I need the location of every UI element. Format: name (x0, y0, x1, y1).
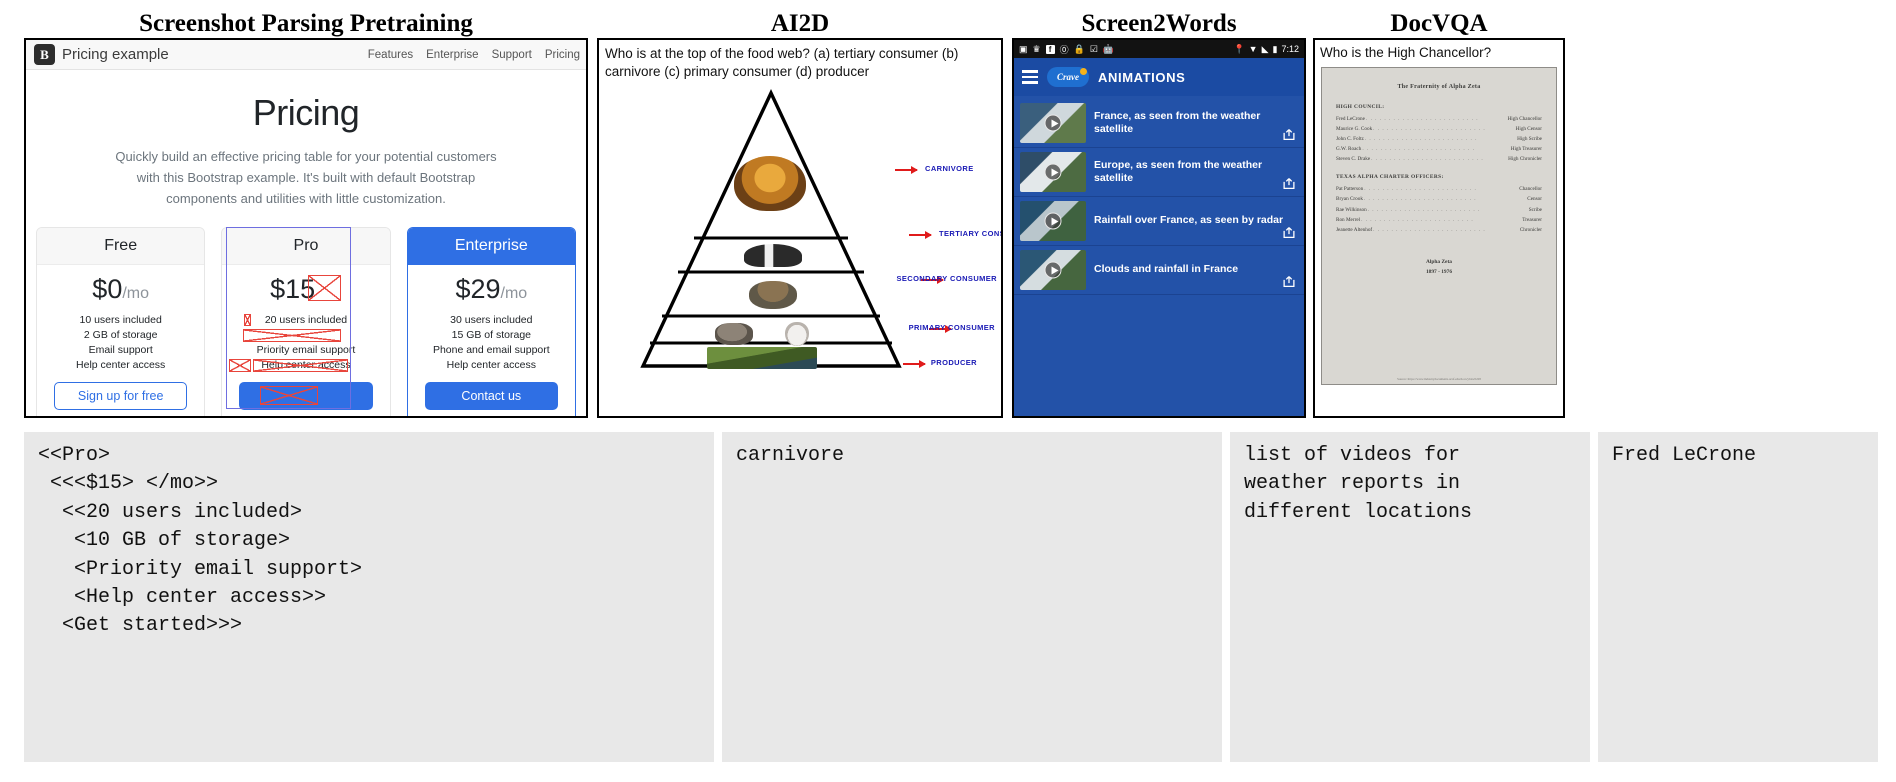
leader-dots: . . . . . . . . . . . . . . . . . . . . … (1367, 205, 1529, 215)
person-role: High Treasurer (1511, 144, 1542, 154)
navbar-brand[interactable]: Pricing example (62, 46, 169, 63)
lock-icon: 🔒 (1074, 44, 1085, 55)
feature-item: Help center access (45, 358, 196, 373)
person-name: Ron Merrel (1336, 215, 1360, 225)
feature-item: 10 users included (45, 313, 196, 328)
label-secondary-consumer: SECONDARY CONSUMER (896, 274, 997, 283)
panel-docvqa: Who is the High Chancellor? The Fraterni… (1313, 38, 1565, 418)
list-item[interactable]: Clouds and rainfall in France (1014, 246, 1304, 295)
video-title: Europe, as seen from the weather satelli… (1094, 159, 1298, 186)
person-role: High Chronicler (1508, 154, 1542, 164)
docvqa-question: Who is the High Chancellor? (1315, 40, 1563, 65)
android-status-bar: ▣ ♛ f ⓪ 🔒 ☑ 🤖 📍 ▼ ◣ ▮ 7:12 (1014, 40, 1304, 58)
person-role: Censor (1527, 194, 1542, 204)
grass-producer-image (707, 347, 817, 369)
label-primary-consumer: PRIMARY CONSUMER (909, 323, 995, 332)
price-pro: $15/mo (230, 274, 381, 305)
column-title-ai2d: AI2D (597, 10, 1003, 38)
person-name: G.W. Roach (1336, 144, 1361, 154)
roster-row: Bryan Crook . . . . . . . . . . . . . . … (1336, 194, 1542, 204)
leader-dots: . . . . . . . . . . . . . . . . . . . . … (1363, 184, 1519, 194)
rabbit-image (785, 322, 809, 346)
video-title: Rainfall over France, as seen by radar (1094, 214, 1298, 227)
feature-item: 30 users included (416, 313, 567, 328)
play-icon[interactable] (1045, 164, 1062, 181)
arrow-producer (903, 363, 925, 365)
person-name: Jeanette Altenhof (1336, 225, 1372, 235)
panel-screen2words: ▣ ♛ f ⓪ 🔒 ☑ 🤖 📍 ▼ ◣ ▮ 7:12 Crave ANIMATI… (1012, 38, 1306, 418)
mask-helpcenter-part1 (229, 359, 251, 372)
person-name: Steven C. Drake (1336, 154, 1370, 164)
footer-years: 1897 - 1976 (1336, 267, 1542, 277)
person-name: Maurice G. Cook (1336, 124, 1372, 134)
contactus-button[interactable]: Contact us (425, 382, 558, 410)
document-title: The Fraternity of Alpha Zeta (1336, 84, 1542, 90)
bootstrap-navbar: B Pricing example Features Enterprise Su… (26, 40, 586, 70)
app-logo-text: Crave (1057, 72, 1079, 82)
nav-item-features[interactable]: Features (368, 49, 413, 61)
arrow-tertiary-consumer (909, 234, 931, 236)
document-content: The Fraternity of Alpha Zeta HIGH COUNCI… (1322, 68, 1556, 294)
column-title-docvqa: DocVQA (1313, 10, 1565, 38)
feature-item: Email support (45, 343, 196, 358)
snake-rodent-image (749, 281, 797, 309)
feature-item: 20 users included (230, 313, 381, 328)
app-bar: Crave ANIMATIONS (1014, 58, 1304, 96)
roster-row: Steven C. Drake . . . . . . . . . . . . … (1336, 154, 1542, 164)
section-heading-high-council: HIGH COUNCIL: (1336, 104, 1542, 110)
caption-spp: <<Pro> <<<$15> </mo>> <<20 users include… (24, 432, 714, 762)
person-role: High Scribe (1517, 134, 1542, 144)
pricing-hero: Pricing Quickly build an effective prici… (26, 70, 586, 209)
panel-ai2d: Who is at the top of the food web? (a) t… (597, 38, 1003, 418)
document-footer: Alpha Zeta 1897 - 1976 (1336, 257, 1542, 278)
price-free: $0/mo (45, 274, 196, 305)
price-period: /mo (501, 285, 528, 302)
mask-price-period (308, 275, 341, 301)
nav-item-enterprise[interactable]: Enterprise (426, 49, 478, 61)
panel-screenshot-parsing-pretraining: B Pricing example Features Enterprise Su… (24, 38, 588, 418)
play-icon[interactable] (1045, 262, 1062, 279)
person-name: Pat Patterson (1336, 184, 1363, 194)
roster-row: Jeanette Altenhof . . . . . . . . . . . … (1336, 225, 1542, 235)
roster-row: Fred LeCrone . . . . . . . . . . . . . .… (1336, 114, 1542, 124)
list-item[interactable]: France, as seen from the weather satelli… (1014, 99, 1304, 148)
sim-icon: ▣ (1019, 44, 1028, 55)
feature-item: Help center access (416, 358, 567, 373)
feature-item: 2 GB of storage (45, 328, 196, 343)
person-role: Chancellor (1519, 184, 1542, 194)
caption-ai2d: carnivore (722, 432, 1222, 762)
roster-row: Maurice G. Cook . . . . . . . . . . . . … (1336, 124, 1542, 134)
caption-screen2words: list of videos for weather reports in di… (1230, 432, 1590, 762)
card-title-free: Free (37, 228, 204, 265)
feature-item: Phone and email support (416, 343, 567, 358)
mask-helpcenter-part2 (253, 359, 348, 372)
person-role: Scribe (1529, 205, 1542, 215)
share-icon[interactable] (1282, 275, 1296, 288)
person-name: Fred LeCrone (1336, 114, 1365, 124)
column-title-spp: Screenshot Parsing Pretraining (24, 10, 588, 38)
card-title-pro: Pro (222, 228, 389, 265)
info-icon: ⓪ (1060, 43, 1069, 56)
caption-docvqa: Fred LeCrone (1598, 432, 1878, 762)
nav-item-pricing[interactable]: Pricing (545, 49, 580, 61)
eagle-image (744, 244, 802, 267)
food-pyramid-diagram: CARNIVORE TERTIARY CONSUMER SECONDARY CO… (599, 81, 1001, 377)
page-title: Pricing (26, 92, 586, 134)
video-thumbnail (1020, 201, 1086, 241)
status-time: 7:12 (1281, 44, 1299, 54)
pricing-card-enterprise: Enterprise $29/mo 30 users included 15 G… (407, 227, 576, 418)
nav-item-support[interactable]: Support (492, 49, 532, 61)
roster-row: Rae Wilkinson . . . . . . . . . . . . . … (1336, 205, 1542, 215)
scanned-document: The Fraternity of Alpha Zeta HIGH COUNCI… (1321, 67, 1557, 385)
video-thumbnail (1020, 152, 1086, 192)
pricing-card-free: Free $0/mo 10 users included 2 GB of sto… (36, 227, 205, 418)
person-role: High Chancellor (1508, 114, 1542, 124)
facebook-icon: f (1046, 45, 1055, 54)
leader-dots: . . . . . . . . . . . . . . . . . . . . … (1360, 215, 1522, 225)
video-thumbnail (1020, 250, 1086, 290)
roster-row: John C. Foltz . . . . . . . . . . . . . … (1336, 134, 1542, 144)
card-body-enterprise: $29/mo 30 users included 15 GB of storag… (408, 265, 575, 418)
figure-root: Screenshot Parsing Pretraining AI2D Scre… (0, 0, 1896, 782)
label-carnivore: CARNIVORE (925, 164, 974, 173)
person-role: Treasurer (1522, 215, 1542, 225)
roster-row: G.W. Roach . . . . . . . . . . . . . . .… (1336, 144, 1542, 154)
bootstrap-logo-icon: B (34, 44, 55, 65)
leader-dots: . . . . . . . . . . . . . . . . . . . . … (1370, 154, 1508, 164)
video-list: France, as seen from the weather satelli… (1014, 96, 1304, 418)
feature-item: Priority email support (230, 343, 381, 358)
pricing-cards: Free $0/mo 10 users included 2 GB of sto… (26, 209, 586, 418)
location-icon: 📍 (1233, 44, 1244, 55)
arrow-carnivore (895, 169, 917, 171)
footer-org: Alpha Zeta (1336, 257, 1542, 267)
feature-list-free: 10 users included 2 GB of storage Email … (45, 313, 196, 373)
mask-getstarted-label (260, 386, 318, 405)
navbar-menu: Features Enterprise Support Pricing (368, 49, 580, 61)
roster-row: Ron Merrel . . . . . . . . . . . . . . .… (1336, 215, 1542, 225)
battery-icon: ▮ (1273, 44, 1278, 55)
logo-dot-icon (1080, 68, 1087, 75)
video-title: France, as seen from the weather satelli… (1094, 110, 1298, 137)
play-icon[interactable] (1045, 213, 1062, 230)
document-source-note: Source: https://www.industrydocuments.uc… (1322, 377, 1556, 381)
person-name: Bryan Crook (1336, 194, 1363, 204)
price-period: /mo (122, 285, 149, 302)
hero-subtext: Quickly build an effective pricing table… (104, 146, 508, 209)
section-heading-texas-alpha: TEXAS ALPHA CHARTER OFFICERS: (1336, 174, 1542, 180)
price-amount: $29 (455, 274, 500, 304)
video-title: Clouds and rainfall in France (1094, 263, 1298, 276)
person-role: Chronicler (1520, 225, 1542, 235)
signup-button[interactable]: Sign up for free (54, 382, 187, 410)
leader-dots: . . . . . . . . . . . . . . . . . . . . … (1372, 225, 1520, 235)
price-enterprise: $29/mo (416, 274, 567, 305)
leader-dots: . . . . . . . . . . . . . . . . . . . . … (1364, 134, 1517, 144)
mouse-image (715, 323, 753, 345)
person-name: Rae Wilkinson (1336, 205, 1367, 215)
checkbox-icon: ☑ (1090, 44, 1098, 55)
leader-dots: . . . . . . . . . . . . . . . . . . . . … (1365, 114, 1508, 124)
leader-dots: . . . . . . . . . . . . . . . . . . . . … (1372, 124, 1515, 134)
price-amount: $0 (92, 274, 122, 304)
app-bar-title: ANIMATIONS (1098, 70, 1185, 85)
person-role: High Censor (1516, 124, 1542, 134)
card-body-free: $0/mo 10 users included 2 GB of storage … (37, 265, 204, 418)
hamburger-icon[interactable] (1022, 70, 1038, 84)
leader-dots: . . . . . . . . . . . . . . . . . . . . … (1363, 194, 1527, 204)
wifi-icon: ▼ (1249, 44, 1258, 54)
play-icon[interactable] (1045, 115, 1062, 132)
list-item[interactable]: Europe, as seen from the weather satelli… (1014, 148, 1304, 197)
share-icon[interactable] (1282, 177, 1296, 190)
pricing-card-pro: Pro $15/mo 20 users included 10 GB of st… (221, 227, 390, 418)
leader-dots: . . . . . . . . . . . . . . . . . . . . … (1361, 144, 1510, 154)
android-icon: 🤖 (1103, 44, 1114, 55)
share-icon[interactable] (1282, 226, 1296, 239)
mask-users-digit (244, 314, 251, 326)
list-item[interactable]: Rainfall over France, as seen by radar (1014, 197, 1304, 246)
mask-storage-line (243, 329, 341, 342)
person-name: John C. Foltz (1336, 134, 1364, 144)
share-icon[interactable] (1282, 128, 1296, 141)
app-logo: Crave (1047, 67, 1089, 87)
crown-icon: ♛ (1033, 44, 1041, 55)
signal-icon: ◣ (1262, 44, 1269, 55)
label-tertiary-consumer: TERTIARY CONSUMER (939, 229, 1003, 238)
card-title-enterprise: Enterprise (408, 228, 575, 265)
feature-item: 15 GB of storage (416, 328, 567, 343)
video-thumbnail (1020, 103, 1086, 143)
ai2d-question: Who is at the top of the food web? (a) t… (599, 40, 1001, 81)
roster-row: Pat Patterson . . . . . . . . . . . . . … (1336, 184, 1542, 194)
status-right-group: 📍 ▼ ◣ ▮ 7:12 (1233, 44, 1299, 55)
lion-image (734, 156, 806, 211)
column-title-screen2words: Screen2Words (1012, 10, 1306, 38)
feature-list-enterprise: 30 users included 15 GB of storage Phone… (416, 313, 567, 373)
label-producer: PRODUCER (931, 358, 977, 367)
